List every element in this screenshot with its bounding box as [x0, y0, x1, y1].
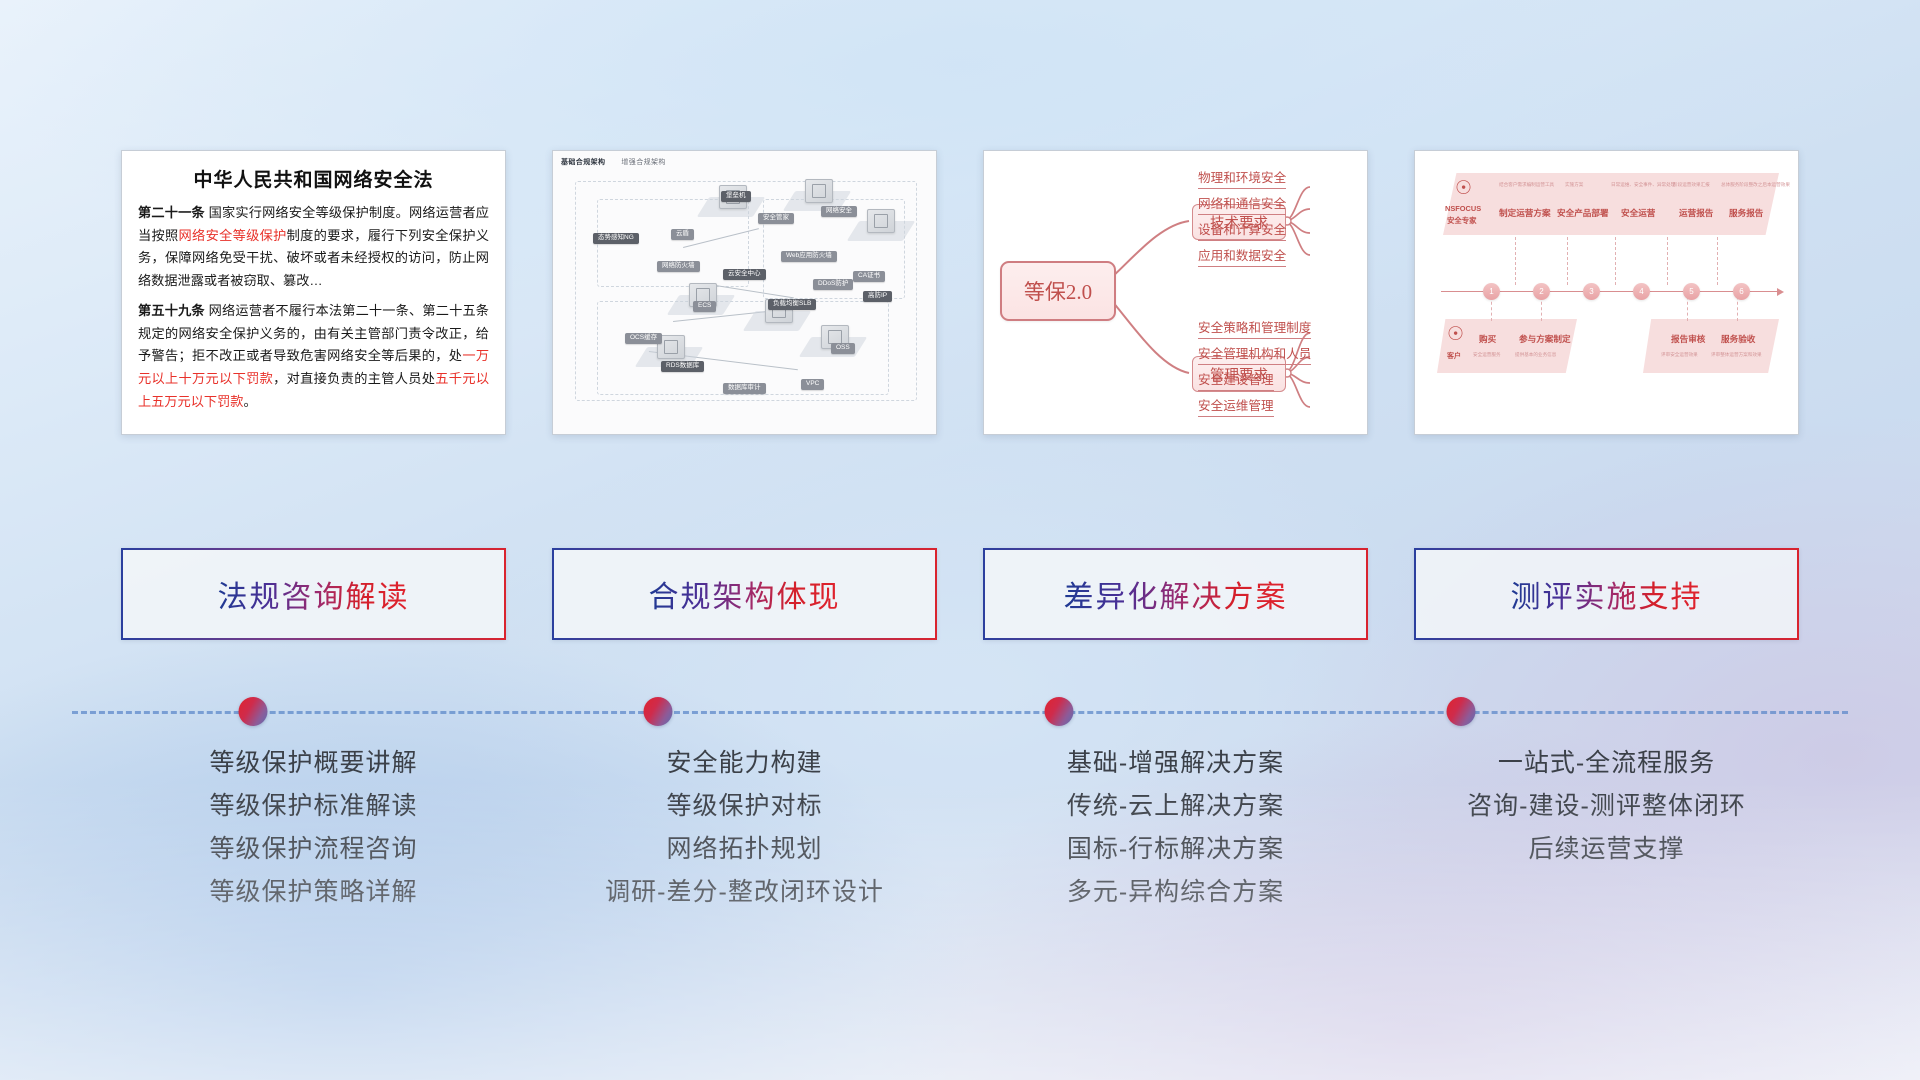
mindmap-leaf: 安全建设管理	[1198, 369, 1274, 391]
process-connector	[1515, 237, 1516, 285]
process-step-number: 5	[1683, 283, 1700, 300]
process-bottom-main: 服务验收	[1721, 335, 1755, 344]
architecture-node-chip: 数据库审计	[723, 383, 766, 394]
process-top-sub: 总体服务阶段整改之后本运营效果	[1721, 183, 1790, 188]
architecture-node-chip: 负载均衡SLB	[768, 299, 816, 310]
expert-person-icon: ☉	[1455, 179, 1472, 198]
list-item: 多元-异构综合方案	[983, 871, 1368, 914]
list-item: 等级保护对标	[552, 785, 937, 828]
list-item: 安全能力构建	[552, 742, 937, 785]
process-step-number: 6	[1733, 283, 1750, 300]
process-bottom-sub: 提供基本的业务信息	[1515, 353, 1556, 358]
title-box-compliance-architecture[interactable]: 合规架构体现	[552, 548, 937, 640]
customer-label: 客户	[1447, 353, 1461, 360]
mindmap-leaf: 安全策略和管理制度	[1198, 317, 1311, 339]
list-item: 等级保护标准解读	[121, 785, 506, 828]
architecture-node-chip: 堡垒机	[721, 191, 751, 202]
title-text: 测评实施支持	[1511, 572, 1703, 616]
architecture-node-chip: 态势感知NG	[593, 233, 639, 244]
title-box-evaluation-support[interactable]: 测评实施支持	[1414, 548, 1799, 640]
architecture-node-chip: RDS数据库	[661, 361, 704, 372]
list-item: 后续运营支撑	[1414, 828, 1799, 871]
process-step-number: 1	[1483, 283, 1500, 300]
process-connector	[1615, 237, 1616, 285]
title-box-differentiated-solution[interactable]: 差异化解决方案	[983, 548, 1368, 640]
process-top-main: 制定运营方案	[1499, 209, 1551, 218]
title-text: 差异化解决方案	[1064, 572, 1288, 616]
process-top-sub: 结合客户需求编制运营工具	[1499, 183, 1554, 188]
article-59-text-b: ，对直接负责的主管人员处	[273, 371, 435, 386]
article-59-text-c: 。	[244, 394, 257, 409]
process-bottom-main: 参与方案制定	[1519, 335, 1571, 344]
architecture-node-chip: OSS	[831, 343, 855, 354]
architecture-server-icon	[805, 179, 833, 203]
timeline	[72, 692, 1848, 732]
process-connector	[1717, 237, 1718, 285]
mindmap-leaf: 设备和计算安全	[1198, 219, 1286, 241]
article-21-label: 第二十一条	[138, 205, 205, 220]
list-item: 国标-行标解决方案	[983, 828, 1368, 871]
tab-enhanced-architecture[interactable]: 增强合规架构	[621, 159, 665, 166]
article-21-highlight: 网络安全等级保护	[179, 228, 287, 243]
architecture-node-chip: 安全管家	[758, 213, 794, 224]
process-top-sub: 实施方案	[1565, 183, 1583, 188]
title-text: 合规架构体现	[649, 572, 841, 616]
service-list-compliance-architecture: 安全能力构建 等级保护对标 网络拓扑规划 调研-差分-整改闭环设计	[552, 742, 937, 914]
architecture-node-chip: CA证书	[853, 271, 885, 282]
law-article-59: 第五十九条 网络运营者不履行本法第二十一条、第二十五条规定的网络安全保护义务的，…	[138, 300, 489, 414]
process-bottom-sub: 评审安全运营效果	[1661, 353, 1698, 358]
process-bottom-main: 购买	[1479, 335, 1496, 344]
timeline-dot-4[interactable]	[1446, 697, 1475, 726]
process-top-main: 安全产品部署	[1557, 209, 1609, 218]
law-article-21: 第二十一条 国家实行网络安全等级保护制度。网络运营者应当按照网络安全等级保护制度…	[138, 202, 489, 293]
service-list-evaluation-support: 一站式-全流程服务 咨询-建设-测评整体闭环 后续运营支撑	[1414, 742, 1799, 914]
process-top-main: 服务报告	[1729, 209, 1763, 218]
image-cards-row: 中华人民共和国网络安全法 第二十一条 国家实行网络安全等级保护制度。网络运营者应…	[0, 150, 1920, 440]
mindmap-root-node: 等保2.0	[1000, 261, 1116, 321]
list-item: 调研-差分-整改闭环设计	[552, 871, 937, 914]
service-list-regulation-consulting: 等级保护概要讲解 等级保护标准解读 等级保护流程咨询 等级保护策略详解	[121, 742, 506, 914]
list-item: 一站式-全流程服务	[1414, 742, 1799, 785]
timeline-dot-3[interactable]	[1045, 697, 1074, 726]
customer-person-icon: ☉	[1447, 325, 1464, 344]
process-top-main: 安全运营	[1621, 209, 1655, 218]
mindmap-leaf: 应用和数据安全	[1198, 245, 1286, 267]
process-top-main: 运营报告	[1679, 209, 1713, 218]
service-lists-row: 等级保护概要讲解 等级保护标准解读 等级保护流程咨询 等级保护策略详解 安全能力…	[0, 742, 1920, 914]
process-step-number: 4	[1633, 283, 1650, 300]
process-step-number: 3	[1583, 283, 1600, 300]
list-item: 传统-云上解决方案	[983, 785, 1368, 828]
mindmap-leaf: 物理和环境安全	[1198, 167, 1286, 189]
architecture-server-icon	[867, 209, 895, 233]
title-box-regulation-consulting[interactable]: 法规咨询解读	[121, 548, 506, 640]
title-text: 法规咨询解读	[218, 572, 410, 616]
mindmap-leaf: 安全运维管理	[1198, 395, 1274, 417]
mindmap-leaf: 网络和通信安全	[1198, 193, 1286, 215]
brand-line-2: 安全专家	[1447, 217, 1477, 224]
architecture-node-chip: 高防IP	[863, 291, 892, 302]
architecture-node-chip: 网络防火墙	[657, 261, 700, 272]
article-59-label: 第五十九条	[138, 303, 205, 318]
timeline-dot-1[interactable]	[239, 697, 268, 726]
process-bottom-sub: 评审整体运营方案和效果	[1711, 353, 1762, 358]
architecture-node-chip: DDoS防护	[813, 279, 853, 290]
architecture-tabs: 基础合规架构增强合规架构	[561, 157, 682, 167]
list-item: 咨询-建设-测评整体闭环	[1414, 785, 1799, 828]
process-top-sub: 阶段运营效果汇报	[1673, 183, 1710, 188]
process-connector	[1667, 237, 1668, 285]
section-titles-row: 法规咨询解读 合规架构体现 差异化解决方案 测评实施支持	[0, 548, 1920, 640]
process-top-sub: 日常运维、安全事件、异常处理	[1611, 183, 1675, 188]
timeline-dashed-line	[72, 711, 1848, 714]
card-cybersecurity-law[interactable]: 中华人民共和国网络安全法 第二十一条 国家实行网络安全等级保护制度。网络运营者应…	[121, 150, 506, 435]
mindmap-leaf: 安全管理机构和人员	[1198, 343, 1311, 365]
process-bottom-sub: 安全运营服务	[1473, 353, 1501, 358]
card-nsfocus-process[interactable]: ☉ NSFOCUS 安全专家 ☉ 客户 结合客户需求编制运营工具 制定运营方案 …	[1414, 150, 1799, 435]
list-item: 等级保护策略详解	[121, 871, 506, 914]
process-bottom-right-band	[1643, 319, 1779, 373]
tab-basic-architecture[interactable]: 基础合规架构	[561, 159, 605, 166]
architecture-node-chip: 云安全中心	[723, 269, 766, 280]
architecture-node-chip: ECS	[693, 301, 716, 312]
timeline-dot-2[interactable]	[644, 697, 673, 726]
list-item: 等级保护流程咨询	[121, 828, 506, 871]
process-step-number: 2	[1533, 283, 1550, 300]
card-dengbao-mindmap[interactable]: 等保2.0 技术要求 管理要求 物理和环境安全 网络和通信安全 设备和计算安全 …	[983, 150, 1368, 435]
brand-line-1: NSFOCUS	[1445, 205, 1481, 212]
architecture-node-chip: OCS缓存	[625, 333, 662, 344]
list-item: 基础-增强解决方案	[983, 742, 1368, 785]
architecture-node-chip: VPC	[801, 379, 824, 390]
architecture-node-chip: 云盾	[671, 229, 694, 240]
slide-canvas: 中华人民共和国网络安全法 第二十一条 国家实行网络安全等级保护制度。网络运营者应…	[0, 0, 1920, 1080]
list-item: 等级保护概要讲解	[121, 742, 506, 785]
architecture-node-chip: 网络安全	[821, 206, 857, 217]
card-compliance-architecture[interactable]: 基础合规架构增强合规架构	[552, 150, 937, 435]
architecture-node-chip: Web应用防火墙	[781, 251, 837, 262]
process-bottom-main: 报告审核	[1671, 335, 1705, 344]
service-list-differentiated-solution: 基础-增强解决方案 传统-云上解决方案 国标-行标解决方案 多元-异构综合方案	[983, 742, 1368, 914]
list-item: 网络拓扑规划	[552, 828, 937, 871]
process-connector	[1567, 237, 1568, 285]
law-title: 中华人民共和国网络安全法	[138, 165, 489, 192]
